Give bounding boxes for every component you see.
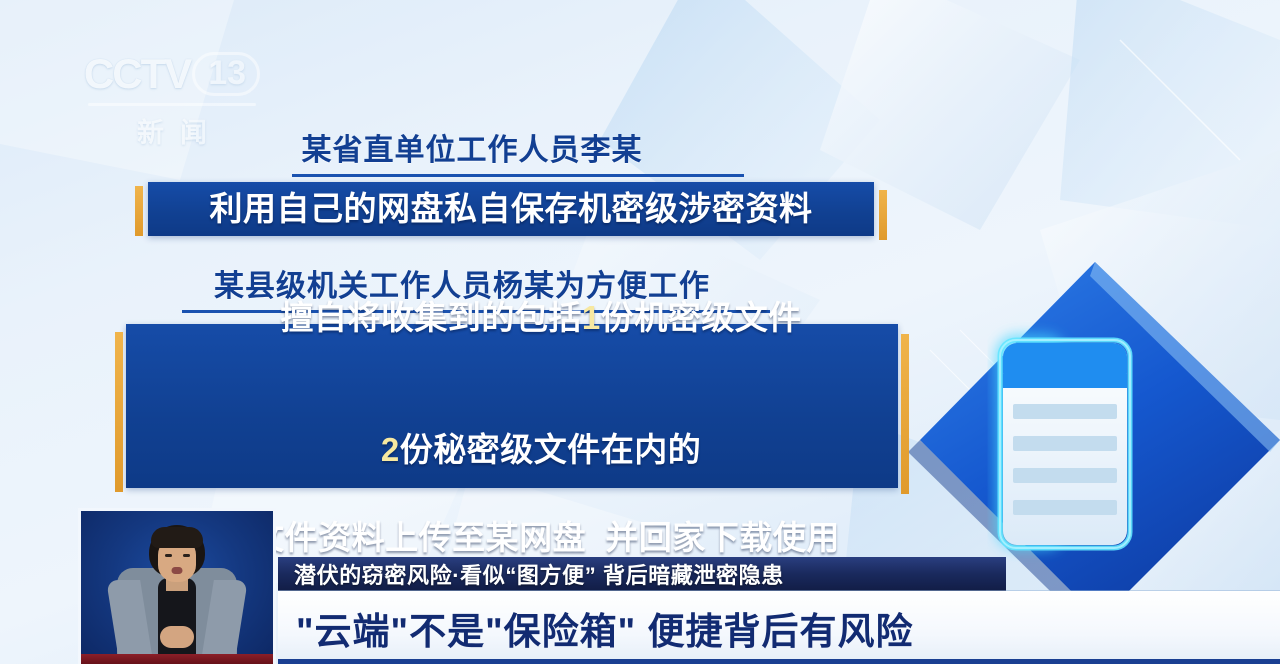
case-2-banner-line-3: 大量文件资料上传至某网盘 并回家下载使用 [184,516,840,560]
lower-third-headline-bar: "云端"不是"保险箱" 便捷背后有风险 [278,591,1280,664]
anchor-fringe [151,527,203,548]
case-2-banner-line-1: 擅自将收集到的包括1份机密级文件 [222,252,801,384]
accent-bar-right [879,190,887,240]
accent-bar-right [901,334,909,494]
news-anchor-inset [78,508,276,664]
case-block-1: 某省直单位工作人员李某 [0,132,930,177]
line-1-post: 份机密级文件 [601,299,802,336]
case-1-banner: 利用自己的网盘私自保存机密级涉密资料 [148,182,874,236]
anchor-mouth [172,567,183,574]
case-2-banner-line-2: 2份秘密级文件在内的 [323,385,701,517]
broadcast-frame: CCTV 13 新闻 某省直单位工作人员李某 利用自己的网盘私自保存机密级涉密资… [0,0,1280,664]
line-1-pre: 擅自将收集到的包括 [280,299,582,336]
accent-bar-left [135,186,143,236]
case-1-heading: 某省直单位工作人员李某 [14,132,930,170]
line-2-number: 2 [381,431,400,468]
headline-bottom-rule [278,659,1280,664]
case-1-banner-text: 利用自己的网盘私自保存机密级涉密资料 [210,187,813,231]
anchor-eye-right [183,554,190,557]
case-1-heading-rule [292,174,744,177]
lower-third-topic-text: 潜伏的窃密风险·看似“图方便” 背后暗藏泄密隐患 [294,558,784,590]
anchor-hands [160,626,194,648]
lower-third-topic-bar: 潜伏的窃密风险·看似“图方便” 背后暗藏泄密隐患 [278,557,1006,591]
anchor-desk-strip [81,654,273,664]
case-2-banner: 擅自将收集到的包括1份机密级文件 2份秘密级文件在内的 大量文件资料上传至某网盘… [126,324,898,488]
anchor-eye-left [165,554,172,557]
line-1-number: 1 [582,299,601,336]
lower-third-headline-text: "云端"不是"保险箱" 便捷背后有风险 [296,601,913,655]
line-2-post: 份秘密级文件在内的 [400,431,702,468]
document-stack-icon [1000,340,1130,548]
accent-bar-left [115,332,123,492]
